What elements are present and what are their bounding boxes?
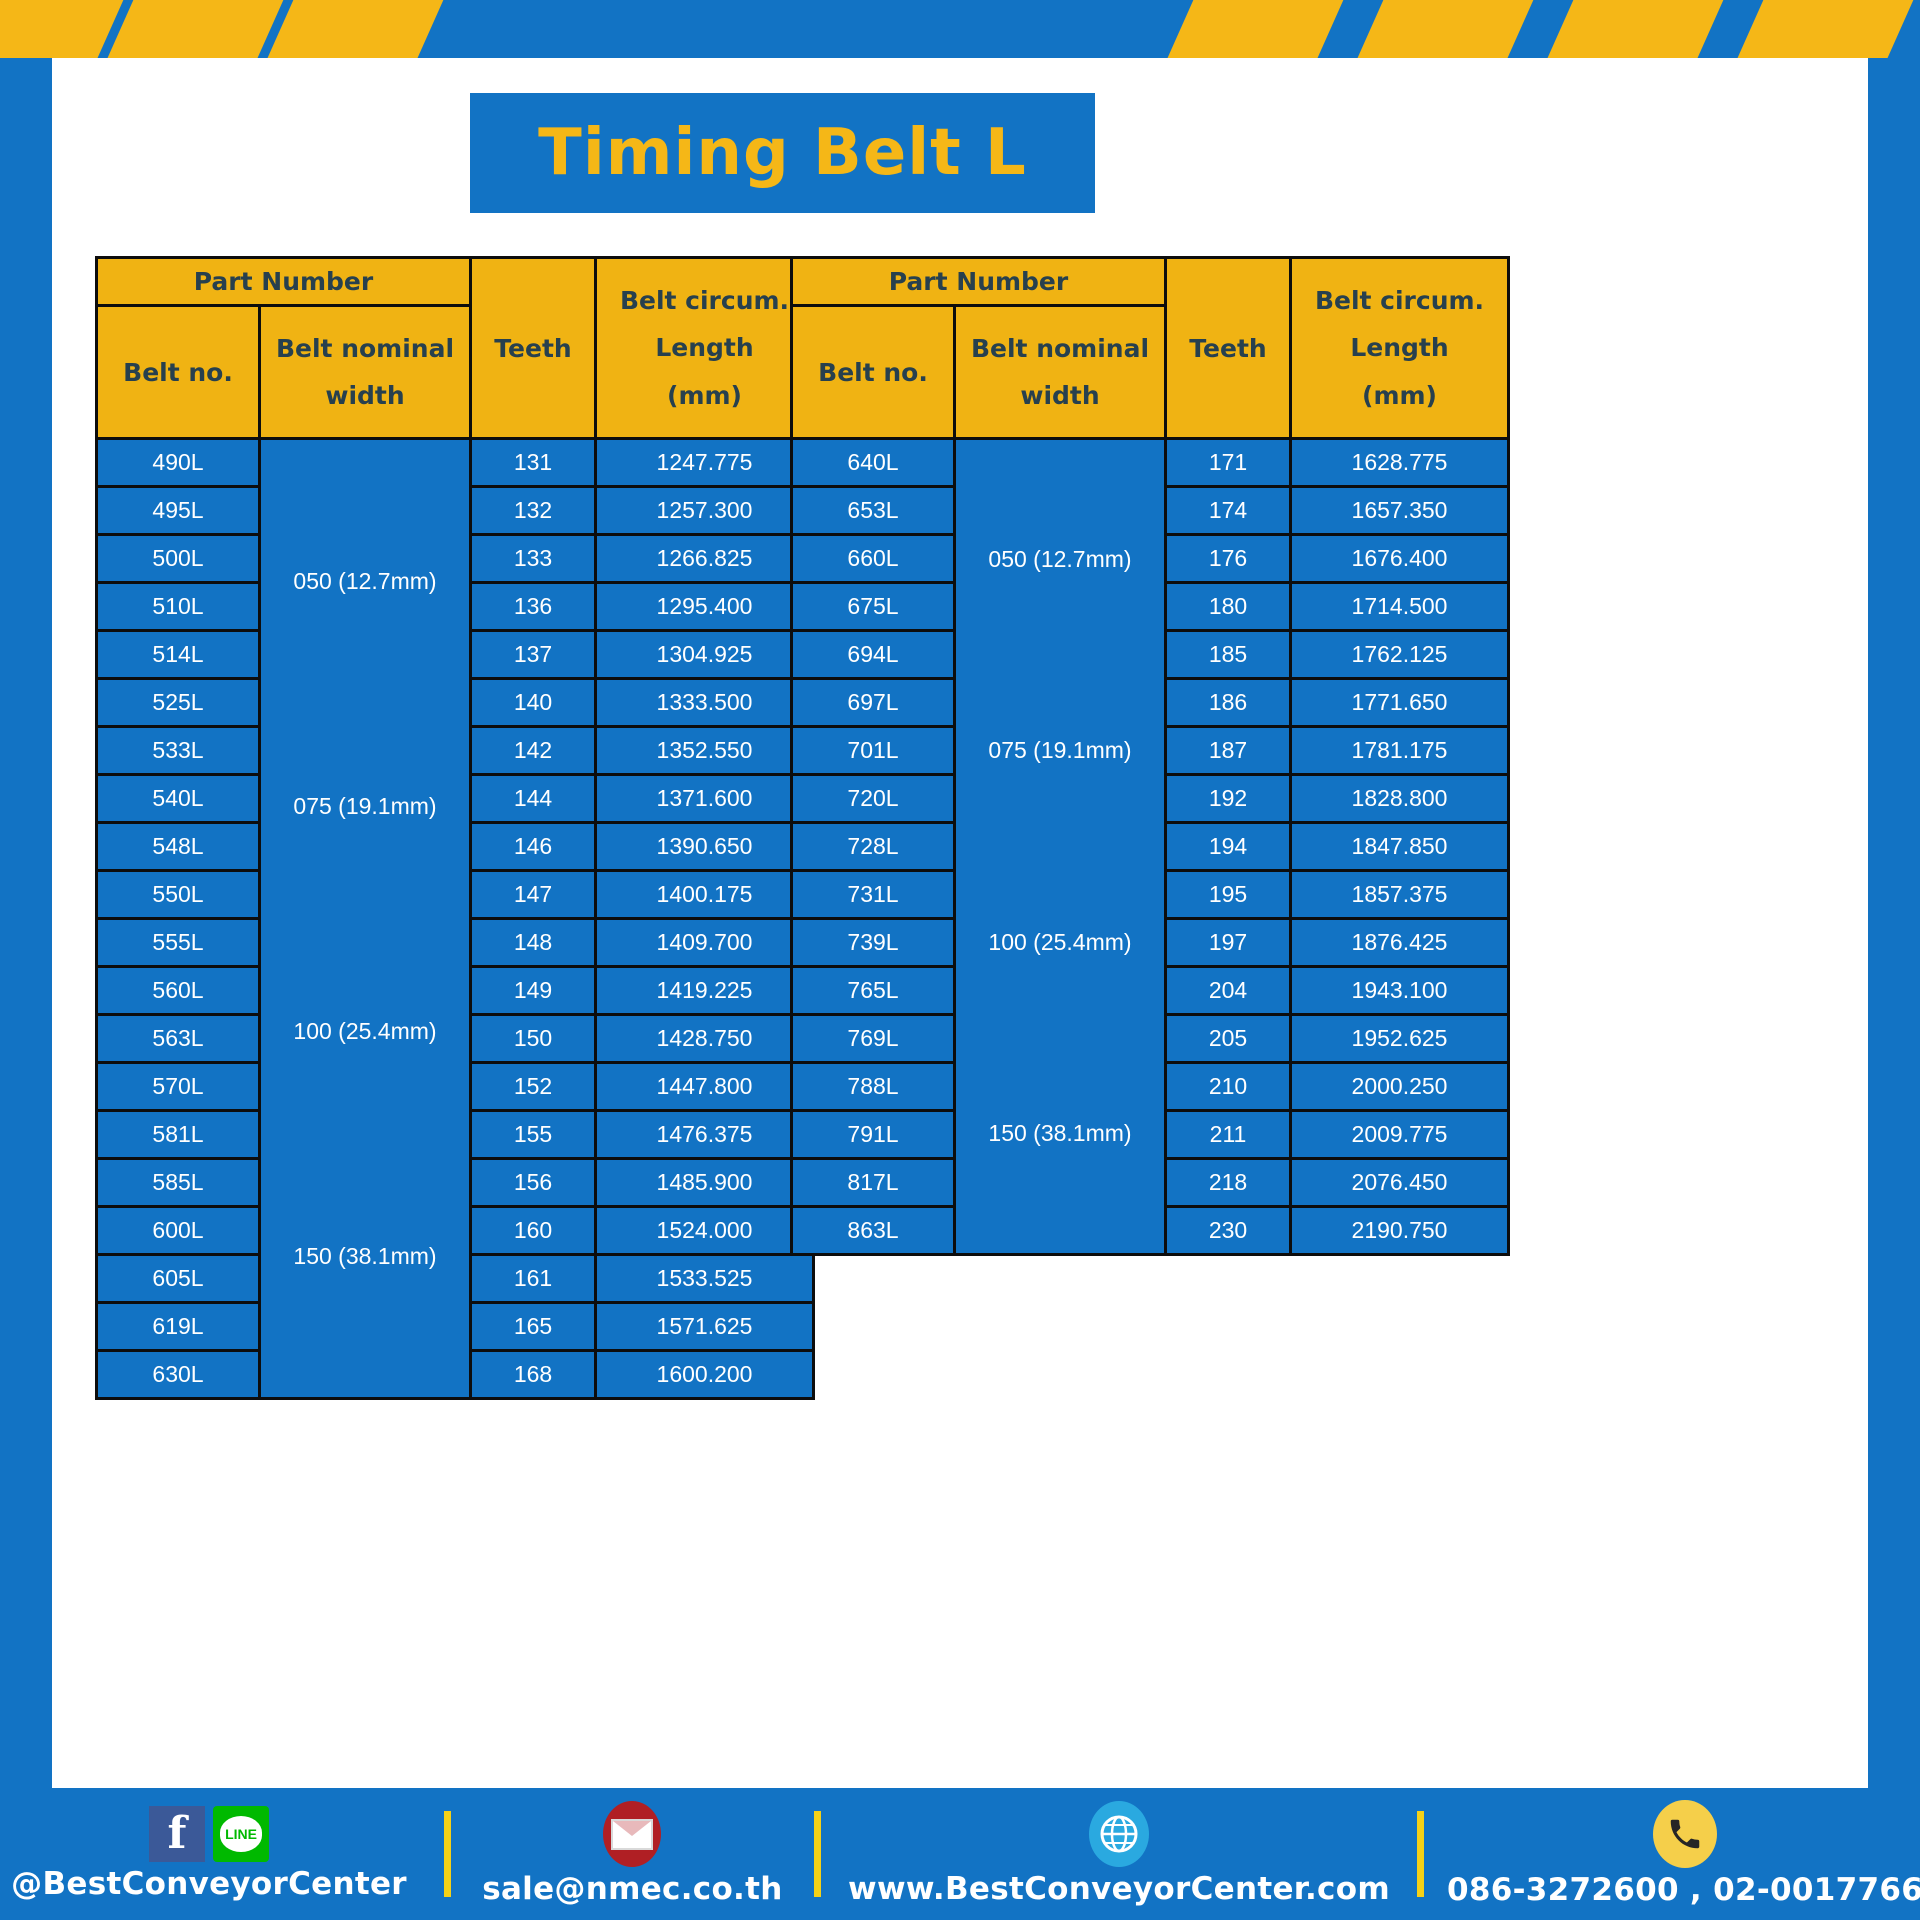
cell-belt-no: 563L	[97, 1015, 260, 1063]
cell-belt-no: 495L	[97, 487, 260, 535]
cell-teeth: 187	[1166, 727, 1291, 775]
line-icon-label: LINE	[220, 1816, 262, 1852]
cell-teeth: 174	[1166, 487, 1291, 535]
footer-divider	[814, 1811, 821, 1897]
chevron-shape	[1734, 0, 1916, 58]
cell-length: 1600.200	[596, 1351, 814, 1399]
cell-belt-no: 640L	[792, 439, 955, 487]
chevron-shape	[0, 0, 126, 58]
cell-teeth: 194	[1166, 823, 1291, 871]
cell-belt-no: 525L	[97, 679, 260, 727]
cell-teeth: 140	[471, 679, 596, 727]
cell-teeth: 230	[1166, 1207, 1291, 1255]
header-width-line: width	[261, 372, 469, 420]
cell-length: 1828.800	[1291, 775, 1509, 823]
cell-length: 1943.100	[1291, 967, 1509, 1015]
phone-icon[interactable]	[1653, 1800, 1717, 1868]
cell-belt-no: 510L	[97, 583, 260, 631]
cell-length: 1762.125	[1291, 631, 1509, 679]
width-option: 075 (19.1mm)	[261, 793, 469, 820]
page-title-text: Timing Belt L	[538, 116, 1027, 190]
header-part-number: Part Number	[792, 258, 1166, 306]
cell-belt-no: 548L	[97, 823, 260, 871]
cell-teeth: 136	[471, 583, 596, 631]
cell-teeth: 131	[471, 439, 596, 487]
chevron-shape	[1544, 0, 1726, 58]
cell-length: 1371.600	[596, 775, 814, 823]
cell-belt-no: 863L	[792, 1207, 955, 1255]
header-row-1: Part Number Teeth Belt circum. Length (m…	[792, 258, 1509, 306]
footer-divider	[444, 1811, 451, 1897]
cell-length: 1266.825	[596, 535, 814, 583]
cell-belt-no: 694L	[792, 631, 955, 679]
cell-belt-no: 490L	[97, 439, 260, 487]
mail-icon[interactable]	[603, 1801, 661, 1867]
right-table-body: 640L050 (12.7mm)075 (19.1mm)100 (25.4mm)…	[792, 439, 1509, 1255]
cell-length: 1419.225	[596, 967, 814, 1015]
header-row-1: Part Number Teeth Belt circum. Length (m…	[97, 258, 814, 306]
width-option: 100 (25.4mm)	[956, 929, 1164, 956]
width-option: 100 (25.4mm)	[261, 1018, 469, 1045]
website-text: www.BestConveyorCenter.com	[848, 1871, 1390, 1907]
cell-teeth: 197	[1166, 919, 1291, 967]
cell-length: 1571.625	[596, 1303, 814, 1351]
header-mm-line: (mm)	[597, 372, 812, 420]
header-width-line: width	[956, 372, 1164, 420]
cell-belt-no: 701L	[792, 727, 955, 775]
email-text: sale@nmec.co.th	[482, 1871, 782, 1907]
globe-icon-wrap	[1089, 1801, 1149, 1867]
cell-length: 1876.425	[1291, 919, 1509, 967]
header-length-line: Length	[597, 324, 812, 372]
cell-belt-no: 739L	[792, 919, 955, 967]
phone-text: 086-3272600 , 02-0017766	[1447, 1872, 1920, 1908]
cell-belt-no: 791L	[792, 1111, 955, 1159]
cell-belt-no: 720L	[792, 775, 955, 823]
cell-teeth: 171	[1166, 439, 1291, 487]
cell-teeth: 148	[471, 919, 596, 967]
right-table: Part Number Teeth Belt circum. Length (m…	[790, 256, 1510, 1256]
cell-teeth: 176	[1166, 535, 1291, 583]
cell-belt-no: 769L	[792, 1015, 955, 1063]
cell-belt-no: 653L	[792, 487, 955, 535]
cell-teeth: 152	[471, 1063, 596, 1111]
cell-length: 2076.450	[1291, 1159, 1509, 1207]
cell-teeth: 204	[1166, 967, 1291, 1015]
cell-belt-no: 500L	[97, 535, 260, 583]
cell-belt-no: 817L	[792, 1159, 955, 1207]
cell-length: 1390.650	[596, 823, 814, 871]
cell-belt-nominal-width: 050 (12.7mm)075 (19.1mm)100 (25.4mm)150 …	[260, 439, 471, 1399]
chevron-shape	[1164, 0, 1346, 58]
cell-length: 1428.750	[596, 1015, 814, 1063]
phone-icon-wrap	[1653, 1800, 1717, 1868]
cell-belt-no: 550L	[97, 871, 260, 919]
chevron-shape	[1354, 0, 1536, 58]
cell-belt-no: 560L	[97, 967, 260, 1015]
cell-belt-nominal-width: 050 (12.7mm)075 (19.1mm)100 (25.4mm)150 …	[955, 439, 1166, 1255]
cell-belt-no: 731L	[792, 871, 955, 919]
header-length-line: Length	[1292, 324, 1507, 372]
header-belt-no: Belt no.	[792, 306, 955, 439]
width-option: 075 (19.1mm)	[956, 737, 1164, 764]
cell-teeth: 156	[471, 1159, 596, 1207]
cell-belt-no: 697L	[792, 679, 955, 727]
header-belt-nominal-width: Belt nominal width	[260, 306, 471, 439]
cell-belt-no: 514L	[97, 631, 260, 679]
cell-teeth: 160	[471, 1207, 596, 1255]
cell-belt-no: 533L	[97, 727, 260, 775]
cell-teeth: 192	[1166, 775, 1291, 823]
cell-length: 1857.375	[1291, 871, 1509, 919]
cell-belt-no: 675L	[792, 583, 955, 631]
cell-teeth: 144	[471, 775, 596, 823]
cell-length: 1485.900	[596, 1159, 814, 1207]
width-option: 050 (12.7mm)	[956, 546, 1164, 573]
cell-length: 1524.000	[596, 1207, 814, 1255]
header-belt-circum-line1: Belt circum.	[597, 277, 812, 325]
cell-length: 1352.550	[596, 727, 814, 775]
globe-icon[interactable]	[1089, 1801, 1149, 1867]
social-handle: @BestConveyorCenter	[11, 1866, 407, 1902]
cell-belt-no: 788L	[792, 1063, 955, 1111]
left-table: Part Number Teeth Belt circum. Length (m…	[95, 256, 815, 1400]
cell-belt-no: 605L	[97, 1255, 260, 1303]
header-belt-no: Belt no.	[97, 306, 260, 439]
cell-teeth: 147	[471, 871, 596, 919]
footer-divider	[1417, 1811, 1424, 1897]
cell-teeth: 133	[471, 535, 596, 583]
cell-length: 1657.350	[1291, 487, 1509, 535]
cell-length: 1257.300	[596, 487, 814, 535]
cell-length: 1400.175	[596, 871, 814, 919]
cell-length: 2009.775	[1291, 1111, 1509, 1159]
cell-teeth: 211	[1166, 1111, 1291, 1159]
globe-glyph	[1099, 1814, 1139, 1854]
cell-belt-no: 540L	[97, 775, 260, 823]
right-table-wrapper: Part Number Teeth Belt circum. Length (m…	[790, 256, 1510, 1256]
header-belt-circum: Belt circum. Length (mm)	[1291, 258, 1509, 439]
cell-belt-no: 765L	[792, 967, 955, 1015]
width-option: 050 (12.7mm)	[261, 568, 469, 595]
header-belt-circum-line1: Belt circum.	[1292, 277, 1507, 325]
cell-length: 1714.500	[1291, 583, 1509, 631]
cell-teeth: 155	[471, 1111, 596, 1159]
footer-website[interactable]: www.BestConveyorCenter.com	[847, 1801, 1391, 1907]
poster-root: Timing Belt L Part Number Teeth Belt cir…	[0, 0, 1920, 1920]
cell-teeth: 149	[471, 967, 596, 1015]
footer-email[interactable]: sale@nmec.co.th	[477, 1801, 788, 1907]
left-table-wrapper: Part Number Teeth Belt circum. Length (m…	[95, 256, 815, 1400]
social-icons: f LINE	[149, 1806, 269, 1862]
cell-length: 2000.250	[1291, 1063, 1509, 1111]
cell-belt-no: 660L	[792, 535, 955, 583]
cell-belt-no: 570L	[97, 1063, 260, 1111]
header-mm-line: (mm)	[1292, 372, 1507, 420]
cell-teeth: 186	[1166, 679, 1291, 727]
cell-length: 1533.525	[596, 1255, 814, 1303]
cell-teeth: 195	[1166, 871, 1291, 919]
width-option: 150 (38.1mm)	[261, 1243, 469, 1270]
header-teeth: Teeth	[1166, 258, 1291, 439]
cell-length: 1952.625	[1291, 1015, 1509, 1063]
cell-length: 2190.750	[1291, 1207, 1509, 1255]
cell-teeth: 150	[471, 1015, 596, 1063]
cell-length: 1628.775	[1291, 439, 1509, 487]
cell-teeth: 137	[471, 631, 596, 679]
cell-length: 1771.650	[1291, 679, 1509, 727]
footer-row: f LINE @BestConveyorCenter sale@nmec.co.…	[0, 1788, 1920, 1920]
cell-teeth: 210	[1166, 1063, 1291, 1111]
cell-teeth: 161	[471, 1255, 596, 1303]
cell-teeth: 165	[471, 1303, 596, 1351]
top-chevron-band	[0, 0, 1920, 58]
header-belt-nominal-line: Belt nominal	[261, 325, 469, 373]
cell-length: 1295.400	[596, 583, 814, 631]
left-table-head: Part Number Teeth Belt circum. Length (m…	[97, 258, 814, 439]
footer-phone[interactable]: 086-3272600 , 02-0017766	[1450, 1800, 1920, 1908]
cell-teeth: 142	[471, 727, 596, 775]
header-part-number: Part Number	[97, 258, 471, 306]
footer-social[interactable]: f LINE @BestConveyorCenter	[0, 1806, 418, 1902]
chevron-shape	[264, 0, 446, 58]
cell-length: 1333.500	[596, 679, 814, 727]
cell-length: 1847.850	[1291, 823, 1509, 871]
width-option: 150 (38.1mm)	[956, 1120, 1164, 1147]
cell-teeth: 205	[1166, 1015, 1291, 1063]
cell-teeth: 168	[471, 1351, 596, 1399]
header-belt-circum: Belt circum. Length (mm)	[596, 258, 814, 439]
cell-belt-no: 600L	[97, 1207, 260, 1255]
table-row: 490L050 (12.7mm)075 (19.1mm)100 (25.4mm)…	[97, 439, 814, 487]
cell-length: 1676.400	[1291, 535, 1509, 583]
cell-teeth: 146	[471, 823, 596, 871]
facebook-icon[interactable]: f	[149, 1806, 205, 1862]
header-teeth: Teeth	[471, 258, 596, 439]
cell-belt-no: 581L	[97, 1111, 260, 1159]
phone-glyph	[1666, 1815, 1704, 1853]
right-table-head: Part Number Teeth Belt circum. Length (m…	[792, 258, 1509, 439]
email-icon-wrap	[603, 1801, 661, 1867]
line-icon[interactable]: LINE	[213, 1806, 269, 1862]
cell-length: 1409.700	[596, 919, 814, 967]
cell-belt-no: 630L	[97, 1351, 260, 1399]
cell-belt-no: 728L	[792, 823, 955, 871]
cell-teeth: 218	[1166, 1159, 1291, 1207]
cell-length: 1447.800	[596, 1063, 814, 1111]
page-title: Timing Belt L	[470, 93, 1095, 213]
cell-teeth: 132	[471, 487, 596, 535]
left-table-body: 490L050 (12.7mm)075 (19.1mm)100 (25.4mm)…	[97, 439, 814, 1399]
envelope-shape	[611, 1819, 653, 1850]
cell-belt-no: 585L	[97, 1159, 260, 1207]
header-belt-nominal-line: Belt nominal	[956, 325, 1164, 373]
cell-belt-no: 619L	[97, 1303, 260, 1351]
chevron-shape	[104, 0, 286, 58]
header-belt-nominal-width: Belt nominal width	[955, 306, 1166, 439]
cell-belt-no: 555L	[97, 919, 260, 967]
cell-teeth: 185	[1166, 631, 1291, 679]
cell-length: 1247.775	[596, 439, 814, 487]
footer-bar: f LINE @BestConveyorCenter sale@nmec.co.…	[0, 1788, 1920, 1920]
cell-length: 1304.925	[596, 631, 814, 679]
table-row: 640L050 (12.7mm)075 (19.1mm)100 (25.4mm)…	[792, 439, 1509, 487]
cell-teeth: 180	[1166, 583, 1291, 631]
cell-length: 1476.375	[596, 1111, 814, 1159]
cell-length: 1781.175	[1291, 727, 1509, 775]
